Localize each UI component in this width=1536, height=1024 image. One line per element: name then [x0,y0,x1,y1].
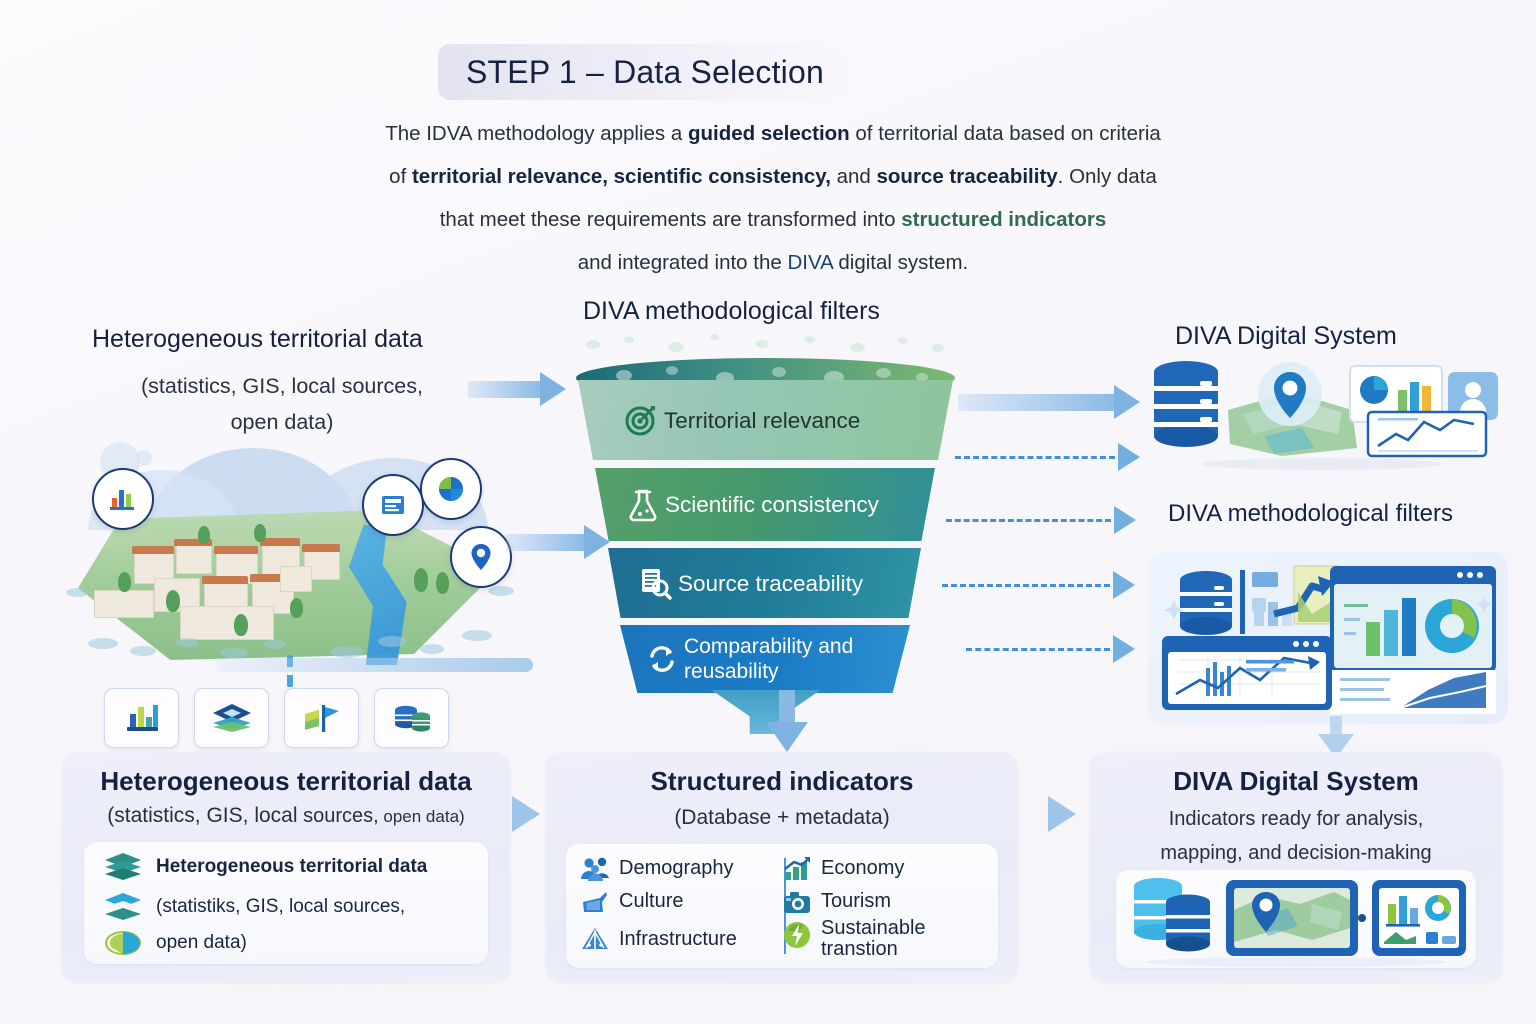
map-pin-icon [450,526,512,588]
left-section-title: Heterogeneous territorial data [92,325,423,354]
intro-line: The IDVA methodology applies a guided se… [268,112,1278,155]
arrow-funnel-to-system [958,385,1140,419]
layers-blue-icon [102,892,144,922]
card-title: Heterogeneous territorial data [62,766,510,797]
indicator-label: Infrastructure [619,929,737,950]
pie-chart-icon [420,458,482,520]
list-item: open data) [102,930,247,956]
intro-line: of territorial relevance, scientific con… [268,155,1278,198]
list-item-label: (statistiks, GIS, local sources, [156,896,405,918]
territory-illustration [58,440,528,670]
list-item-label: Heterogeneous territorial data [156,856,427,878]
indicator-label: Sustainable transtion [821,918,939,960]
right-section-title: DIVA Digital System [1175,322,1397,351]
flask-icon [627,488,659,522]
culture-icon [580,889,610,915]
funnel-band-label: Scientific consistency [665,492,879,517]
funnel-band-territorial-relevance: Territorial relevance [578,380,953,460]
map-flag-tile-icon[interactable] [284,688,359,748]
arrow-left-card-to-mid-card [512,796,540,832]
card-inner-panel: Heterogeneous territorial data (statisti… [84,842,488,964]
indicator-culture: Culture [580,885,782,918]
arrow-funnel-to-indicators [766,690,808,752]
leaf-energy-icon [782,920,812,950]
list-item: (statistiks, GIS, local sources, [102,892,405,922]
funnel-band-label: Territorial relevance [664,408,860,433]
indicator-infrastructure: Infrastructure [580,918,782,960]
dashed-arrow-1 [955,443,1140,471]
arrow-mid-card-to-right-card [1048,796,1076,832]
step-title-badge: STEP 1 – Data Selection [438,44,854,100]
dashboard-illustration [1148,552,1508,724]
funnel-band-comparability-reusability: Comparability and reusability [620,625,910,693]
funnel-band-label: Comparability and reusability [684,634,884,684]
intro-line: that meet these requirements are transfo… [268,198,1278,241]
card-structured-indicators: Structured indicators (Database + metada… [546,752,1018,982]
camera-icon [782,889,812,915]
left-subtitle-line2: open data) [231,410,334,434]
data-source-tiles [104,688,449,748]
card-subtitle: (Database + metadata) [546,806,1018,830]
funnel-band-scientific-consistency: Scientific consistency [595,468,935,541]
page-title: STEP 1 – Data Selection [438,54,824,91]
funnel-band-source-traceability: Source traceability [608,548,921,618]
indicator-label: Tourism [821,891,891,912]
list-item: Heterogeneous territorial data [102,852,427,882]
indicator-economy: Economy [782,852,984,885]
card-subtitle: Indicators ready for analysis, mapping, … [1090,802,1502,870]
card-title: Structured indicators [546,766,1018,797]
bar-chart-tile-icon[interactable] [104,688,179,748]
open-data-icon [102,930,144,956]
card-subtitle-line1: Indicators ready for analysis, [1169,808,1424,830]
layers-tile-icon[interactable] [194,688,269,748]
bridge-icon [580,926,610,952]
card-inner-panel: Demography Economy [566,844,998,968]
indicator-grid: Demography Economy [580,852,984,960]
article-icon [362,474,424,536]
refresh-cycle-icon [646,643,678,675]
card-subtitle-part1: (statistics, GIS, local [107,804,297,827]
card-subtitle-line2: mapping, and decision-making [1160,842,1431,864]
card-heterogeneous-data: Heterogeneous territorial data (statisti… [62,752,510,982]
funnel-band-label: Source traceability [678,571,863,596]
indicator-label: Culture [619,891,683,912]
indicator-tourism: Tourism [782,885,984,918]
card-subtitle: (statistics, GIS, local sources, open da… [62,804,510,828]
dashed-arrow-3 [942,571,1135,599]
target-icon [624,403,658,437]
indicator-label: Demography [619,858,734,879]
layers-teal-icon [102,852,144,882]
database-tile-icon[interactable] [374,688,449,748]
card-subtitle-part3: open data) [379,807,465,826]
list-item-label: open data) [156,932,247,954]
infographic-canvas: STEP 1 – Data Selection The IDVA methodo… [0,0,1536,1024]
digital-system-illustration [1142,352,1512,472]
right-section-subtitle: DIVA methodological filters [1168,500,1453,528]
indicator-sustainable-transition: Sustainable transtion [782,918,984,960]
arrow-data-to-funnel-top [468,372,566,406]
dashed-arrow-2 [946,506,1136,534]
growth-chart-icon [782,856,812,882]
card-title: DIVA Digital System [1090,766,1502,797]
ribbon-connector [215,658,533,672]
document-search-icon [638,566,672,600]
funnel-title: DIVA methodological filters [583,297,880,326]
methodological-filter-funnel: Territorial relevance Scientific consist… [560,352,970,702]
bar-chart-icon [92,468,154,530]
intro-line: and integrated into the DIVA digital sys… [268,241,1278,284]
dashed-arrow-4 [966,635,1135,663]
card-subtitle-part2: sources, [298,805,379,827]
people-icon [580,856,610,882]
indicator-label: Economy [821,858,904,879]
left-section-subtitle: (statistics, GIS, local sources, open da… [97,368,467,440]
card-inner-panel [1116,870,1476,968]
card-diva-digital-system: DIVA Digital System Indicators ready for… [1090,752,1502,982]
left-subtitle-line1: (statistics, GIS, local sources, [141,374,423,398]
indicator-demography: Demography [580,852,782,885]
intro-paragraph: The IDVA methodology applies a guided se… [268,112,1278,284]
